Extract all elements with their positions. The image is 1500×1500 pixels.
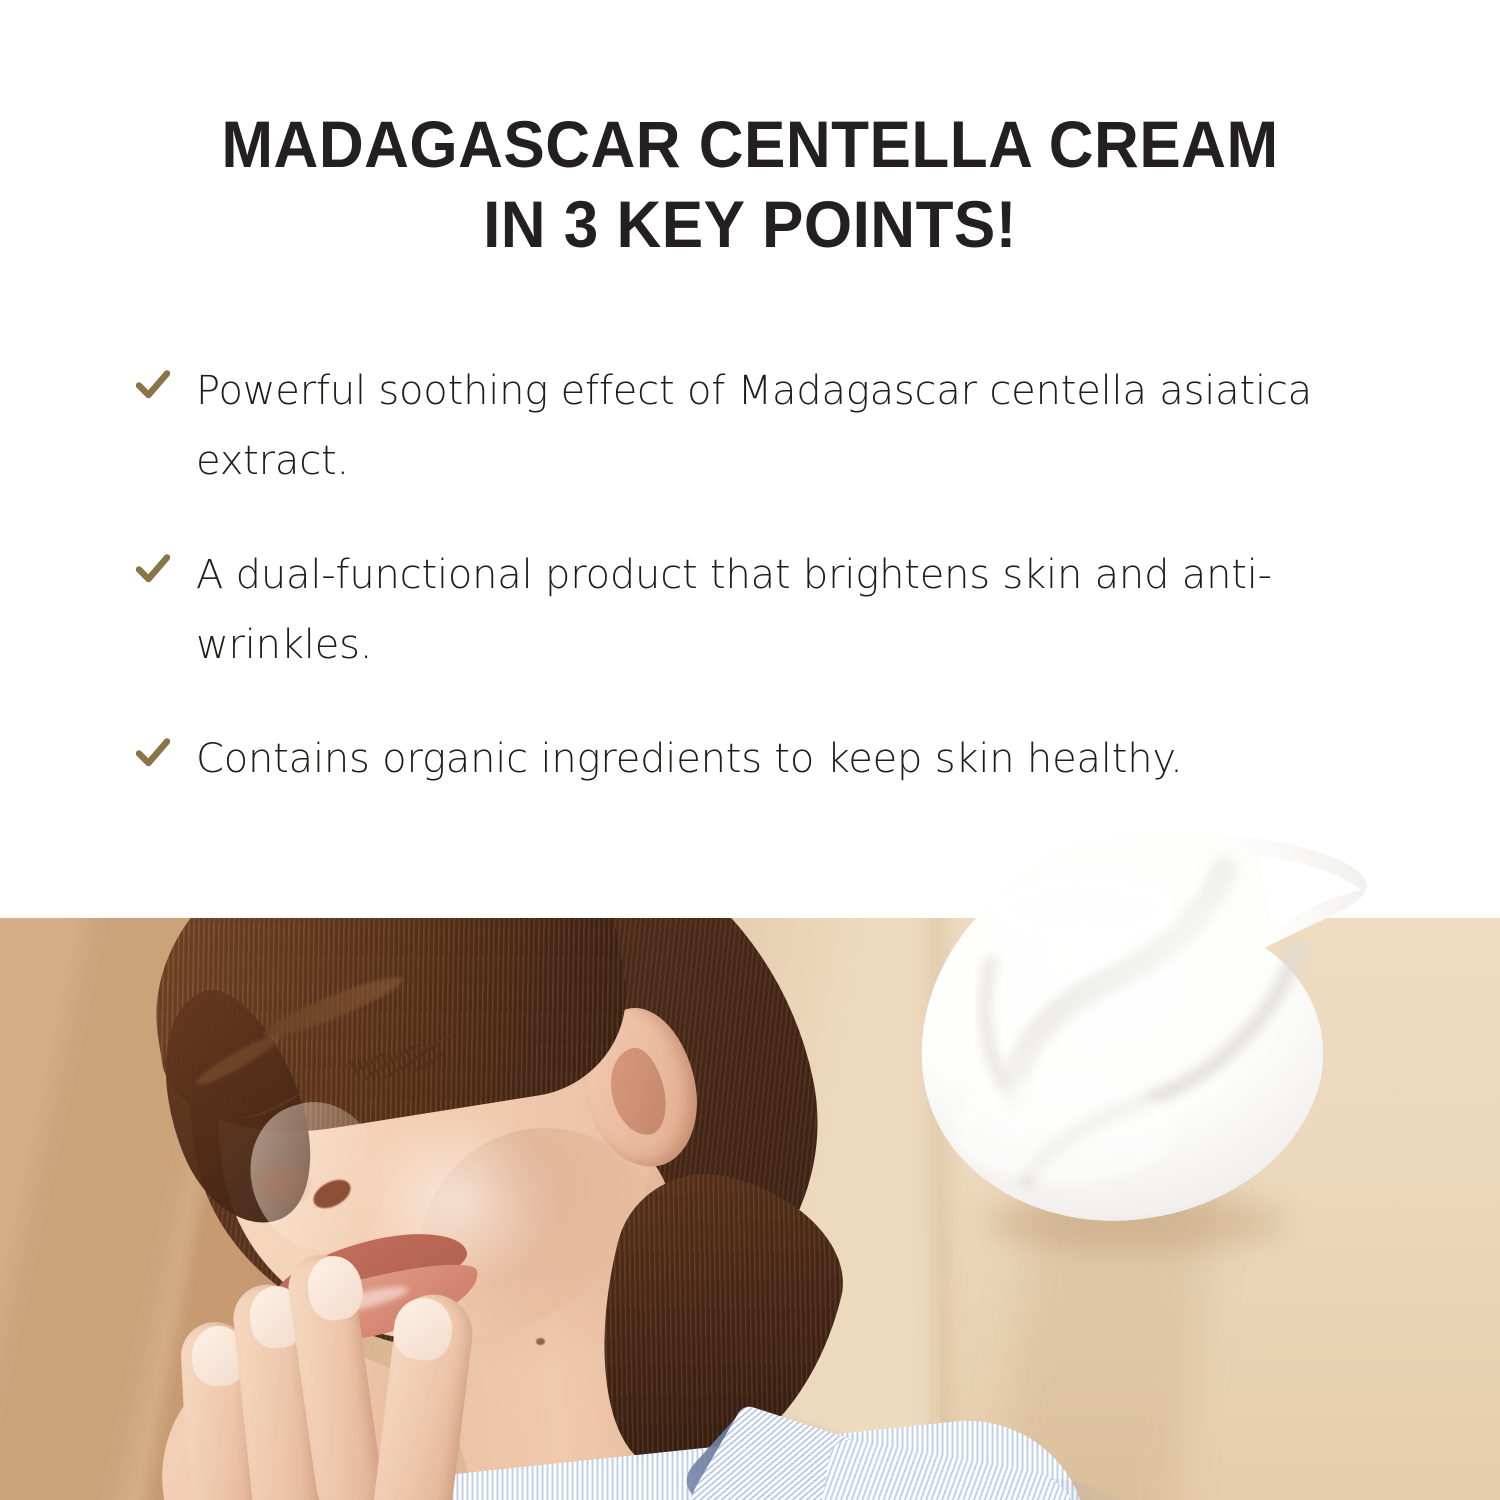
list-item: Powerful soothing effect of Madagascar c… xyxy=(136,356,1386,496)
check-icon xyxy=(136,552,170,586)
check-icon xyxy=(136,736,170,770)
title-line-2: IN 3 KEY POINTS! xyxy=(45,184,1455,264)
list-item: Contains organic ingredients to keep ski… xyxy=(136,724,1386,794)
cream-highlight-bottom xyxy=(955,1078,1175,1182)
title-line-1: MADAGASCAR CENTELLA CREAM xyxy=(45,104,1455,184)
benefit-text: A dual-functional product that brightens… xyxy=(196,540,1386,680)
beauty-mark xyxy=(536,1338,545,1345)
info-panel: MADAGASCAR CENTELLA CREAM IN 3 KEY POINT… xyxy=(0,0,1500,918)
check-icon xyxy=(136,368,170,402)
benefits-list: Powerful soothing effect of Madagascar c… xyxy=(136,356,1386,794)
benefit-text: Contains organic ingredients to keep ski… xyxy=(196,724,1386,794)
list-item: A dual-functional product that brightens… xyxy=(136,540,1386,680)
promo-banner: MADAGASCAR CENTELLA CREAM IN 3 KEY POINT… xyxy=(0,0,1500,1500)
benefit-text: Powerful soothing effect of Madagascar c… xyxy=(196,356,1386,496)
page-title: MADAGASCAR CENTELLA CREAM IN 3 KEY POINT… xyxy=(0,104,1500,264)
nose-shadow xyxy=(246,1158,316,1210)
cream-swatch xyxy=(905,830,1385,1250)
cream-highlight-top xyxy=(991,878,1175,938)
